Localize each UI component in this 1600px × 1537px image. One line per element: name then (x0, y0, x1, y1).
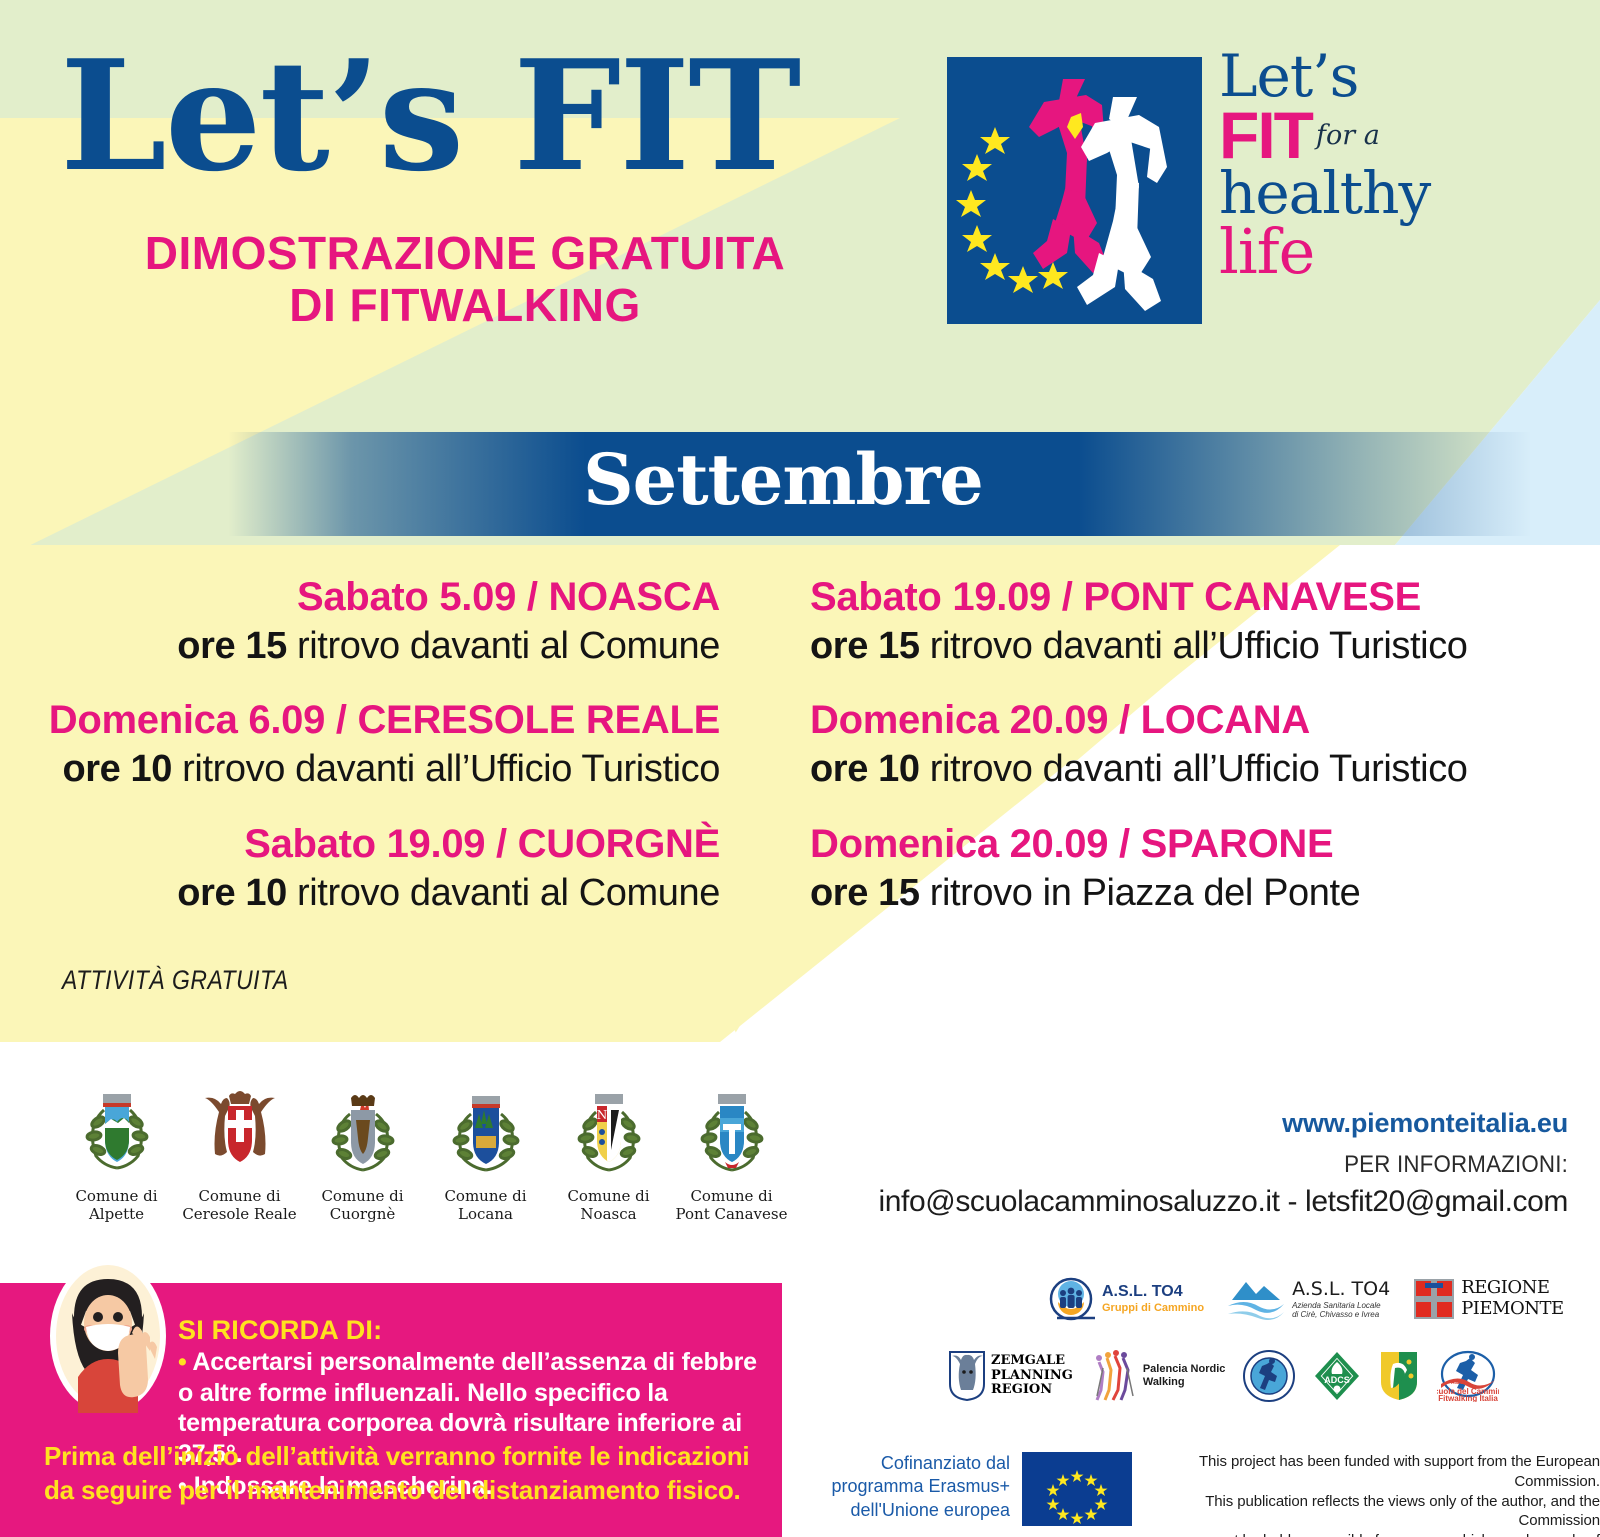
event-time: ore 15 (177, 625, 287, 667)
eu-flag-icon (1022, 1452, 1132, 1526)
crest-pont-canavese: Comune di Pont Canavese (670, 1080, 793, 1224)
crest-label-line1: Comune di (55, 1187, 178, 1205)
bridge-icon (723, 1124, 741, 1130)
crest-label-line1: Comune di (424, 1187, 547, 1205)
crest-label-line2: Pont Canavese (670, 1205, 793, 1223)
schedule-event: Sabato 5.09 / NOASCA ore 15 ritrovo dava… (0, 572, 720, 671)
piemonte-shield-icon (1412, 1277, 1456, 1321)
event-location: ritrovo davanti all’Ufficio Turistico (920, 625, 1468, 667)
coat-of-arms-icon (197, 1080, 283, 1176)
logo-healthy-text: healthy (1219, 165, 1489, 222)
partner-prefix: A.S.D. (1451, 1380, 1466, 1386)
info-label: PER INFORMAZIONI: (917, 1151, 1568, 1179)
crest-label-line1: Comune di (670, 1187, 793, 1205)
subtitle-line-1: DIMOSTRAZIONE GRATUITA (70, 228, 860, 280)
month-banner: Settembre (228, 432, 1600, 536)
eu-disclaimer: This project has been funded with suppor… (1144, 1452, 1600, 1537)
event-detail: ore 15 ritrovo in Piazza del Ponte (810, 869, 1560, 918)
elk-shield-icon (948, 1350, 986, 1402)
event-time: ore 15 (810, 625, 920, 667)
event-detail: ore 10 ritrovo davanti all’Ufficio Turis… (810, 745, 1560, 794)
partner-name: A.S.L. TO4 (1292, 1279, 1390, 1301)
partner-name-2: PLANNING (991, 1369, 1073, 1384)
crest-label-line1: Comune di (547, 1187, 670, 1205)
crest-ceresole-reale: Comune di Ceresole Reale (178, 1080, 301, 1224)
subtitle-line-2: DI FITWALKING (70, 280, 860, 332)
header: Let’s FIT DIMOSTRAZIONE GRATUITA DI FITW… (0, 0, 1600, 400)
event-location: ritrovo in Piazza del Ponte (920, 872, 1361, 914)
event-location: ritrovo davanti all’Ufficio Turistico (172, 748, 720, 790)
event-detail: ore 10 ritrovo davanti all’Ufficio Turis… (0, 745, 720, 794)
event-detail: ore 15 ritrovo davanti all’Ufficio Turis… (810, 622, 1560, 671)
logo-artwork (947, 57, 1202, 324)
crest-label-line2: Alpette (55, 1205, 178, 1223)
event-time: ore 10 (810, 748, 920, 790)
eu-funding-footer: Cofinanziato dal programma Erasmus+ dell… (820, 1452, 1600, 1537)
crest-alpette: Comune di Alpette (55, 1080, 178, 1224)
logo-scuola-cammino-fitwalking-italia: A.S.D. Scuola del Cammino Fitwalking Ita… (1437, 1350, 1499, 1402)
partner-sub1: Azienda Sanitaria Locale (1292, 1301, 1390, 1310)
cofunded-line1: Cofinanziato dal (820, 1452, 1010, 1475)
notice-footer: Prima dell’inizio dell’attività verranno… (44, 1440, 764, 1508)
schedule: Sabato 5.09 / NOASCA ore 15 ritrovo dava… (0, 572, 1600, 922)
event-title: Sabato 19.09 / CUORGNÈ (0, 819, 720, 869)
logo-life-text: life (1219, 222, 1489, 283)
green-yellow-shield-icon (1379, 1350, 1419, 1402)
logo-for-a-text: for a (1316, 120, 1380, 151)
disclaimer-line1: This project has been funded with suppor… (1144, 1452, 1600, 1492)
logo-green-shield-club (1379, 1350, 1419, 1402)
notice-footer-line2: da seguire per il mantenimento del dista… (44, 1474, 764, 1508)
event-time: ore 10 (177, 872, 287, 914)
crown-icon (103, 1094, 131, 1104)
cofunded-line2: programma Erasmus+ (820, 1475, 1010, 1498)
event-detail: ore 15 ritrovo davanti al Comune (0, 622, 720, 671)
event-location: ritrovo davanti al Comune (287, 872, 720, 914)
page-title: Let’s FIT (60, 40, 799, 192)
logo-fit-text: FIT (1219, 105, 1312, 166)
event-title: Domenica 20.09 / LOCANA (810, 695, 1560, 745)
mountain-wave-icon (1226, 1278, 1286, 1320)
schedule-event: Domenica 6.09 / CERESOLE REALE ore 10 ri… (0, 695, 720, 794)
nordic-walkers-icon (1091, 1350, 1137, 1402)
schedule-event: Sabato 19.09 / CUORGNÈ ore 10 ritrovo da… (0, 819, 720, 918)
adcs-diamond-icon: ADCS (1313, 1350, 1361, 1402)
crest-label-line2: Cuorgnè (301, 1205, 424, 1223)
free-activity-note: ATTIVITÀ GRATUITA (62, 965, 289, 996)
partner-logos: A.S.L. TO4 Gruppi di Cammino A.S.L. TO4 … (940, 1272, 1590, 1452)
coat-of-arms-icon (689, 1080, 775, 1176)
contacts-block: www.piemonteitalia.eu PER INFORMAZIONI: … (868, 1108, 1568, 1219)
event-location: ritrovo davanti all’Ufficio Turistico (920, 748, 1468, 790)
fitwalking-italia-icon: A.S.D. Scuola del Cammino Fitwalking Ita… (1437, 1350, 1499, 1402)
cofunded-line3: dell'Unione europea (820, 1499, 1010, 1522)
crest-label-line2: Locana (424, 1205, 547, 1223)
event-title: Domenica 20.09 / SPARONE (810, 819, 1560, 869)
logo-square-background (947, 57, 1202, 324)
schedule-event: Domenica 20.09 / LOCANA ore 10 ritrovo d… (810, 695, 1560, 794)
coat-of-arms-icon: N (566, 1080, 652, 1176)
walking-group-icon (1045, 1276, 1097, 1322)
coat-of-arms-icon (320, 1080, 406, 1176)
schedule-column-left: Sabato 5.09 / NOASCA ore 15 ritrovo dava… (0, 572, 760, 942)
partner-tagline: Gruppi di Cammino (1102, 1302, 1204, 1315)
running-man-seal-icon (1243, 1350, 1295, 1402)
partner-logos-row-1: A.S.L. TO4 Gruppi di Cammino A.S.L. TO4 … (1045, 1276, 1564, 1322)
crown-icon (718, 1094, 746, 1104)
partner-name: A.S.L. TO4 (1102, 1283, 1204, 1301)
logo-asl-to4-azienda: A.S.L. TO4 Azienda Sanitaria Locale di C… (1226, 1278, 1390, 1320)
crest-label: Comune di Noasca (547, 1187, 670, 1224)
crown-icon (351, 1095, 375, 1106)
partner-name: Palencia Nordic (1143, 1363, 1226, 1376)
crest-label-line1: Comune di (301, 1187, 424, 1205)
logo-adcs-carvalhais: ADCS (1313, 1350, 1361, 1402)
crest-label-line2: Noasca (547, 1205, 670, 1223)
notice-title: SI RICORDA DI: (178, 1315, 382, 1346)
logo-regione-piemonte: REGIONE PIEMONTE (1412, 1277, 1563, 1321)
logo-lets-text: Let’s (1219, 49, 1489, 105)
bull-icon (476, 1136, 496, 1148)
avatar (48, 1257, 168, 1415)
bullet-marker: • (178, 1348, 187, 1376)
partner-sub2: di Cirè, Chivasso e Ivrea (1292, 1310, 1390, 1319)
crown-icon (229, 1091, 251, 1104)
month-label: Settembre (228, 438, 1338, 521)
coat-of-arms-icon (74, 1080, 160, 1176)
event-title: Sabato 5.09 / NOASCA (0, 572, 720, 622)
event-time: ore 10 (62, 748, 172, 790)
crest-label: Comune di Alpette (55, 1187, 178, 1224)
masked-woman-icon (48, 1257, 168, 1415)
crest-noasca: N Comune di Noasca (547, 1080, 670, 1224)
schedule-column-right: Sabato 19.09 / PONT CANAVESE ore 15 ritr… (800, 572, 1560, 942)
partner-name-2: PIEMONTE (1461, 1299, 1563, 1320)
website-link[interactable]: www.piemonteitalia.eu (868, 1108, 1568, 1139)
notice-footer-line1: Prima dell’inizio dell’attività verranno… (44, 1440, 764, 1474)
partner-name-3: REGION (991, 1383, 1073, 1398)
schedule-event: Sabato 19.09 / PONT CANAVESE ore 15 ritr… (810, 572, 1560, 671)
crest-label: Comune di Locana (424, 1187, 547, 1224)
disclaimer-line2: This publication reflects the views only… (1144, 1492, 1600, 1532)
ribbon-icon (725, 1162, 739, 1168)
partner-name-2: Walking (1143, 1376, 1226, 1389)
email-addresses[interactable]: info@scuolacamminosaluzzo.it - letsfit20… (868, 1185, 1568, 1219)
page-subtitle: DIMOSTRAZIONE GRATUITA DI FITWALKING (70, 228, 860, 331)
crown-icon (472, 1096, 500, 1105)
logo-asl-to4-gruppi-di-cammino: A.S.L. TO4 Gruppi di Cammino (1045, 1276, 1204, 1322)
crest-label: Comune di Ceresole Reale (178, 1187, 301, 1224)
logo-zemgale-planning-region: ZEMGALE PLANNING REGION (948, 1350, 1073, 1402)
partner-name-2: Fitwalking Italia (1439, 1394, 1499, 1402)
logo-sport-club-seal (1243, 1350, 1295, 1402)
svg-text:N: N (596, 1108, 607, 1122)
cofunded-text: Cofinanziato dal programma Erasmus+ dell… (820, 1452, 1010, 1522)
crest-label: Comune di Pont Canavese (670, 1187, 793, 1224)
event-title: Sabato 19.09 / PONT CANAVESE (810, 572, 1560, 622)
partner-name: ZEMGALE (991, 1354, 1073, 1369)
poster-root: Let’s FIT DIMOSTRAZIONE GRATUITA DI FITW… (0, 0, 1600, 1537)
crown-icon (595, 1094, 623, 1104)
svg-text:ADCS: ADCS (1325, 1375, 1351, 1385)
crest-label-line1: Comune di (178, 1187, 301, 1205)
crest-locana: Comune di Locana (424, 1080, 547, 1224)
letsfit-logo: Let’s FITfor a healthy life (947, 57, 1487, 342)
disclaimer-line3: cannot be held responsible for any use w… (1144, 1531, 1600, 1537)
municipality-crests: Comune di Alpette Comune di Ceresole Rea… (55, 1080, 795, 1224)
schedule-event: Domenica 20.09 / SPARONE ore 15 ritrovo … (810, 819, 1560, 918)
event-detail: ore 10 ritrovo davanti al Comune (0, 869, 720, 918)
logo-palencia-nordic-walking: Palencia Nordic Walking (1091, 1350, 1226, 1402)
coat-of-arms-icon (443, 1080, 529, 1176)
crest-label-line2: Ceresole Reale (178, 1205, 301, 1223)
eye-icon (93, 1312, 103, 1322)
event-time: ore 15 (810, 872, 920, 914)
crest-cuorgne: Comune di Cuorgnè (301, 1080, 424, 1224)
partner-name: REGIONE (1461, 1278, 1563, 1299)
partner-logos-row-2: ZEMGALE PLANNING REGION (948, 1350, 1499, 1402)
logo-wordmark: Let’s FITfor a healthy life (1219, 49, 1489, 339)
event-title: Domenica 6.09 / CERESOLE REALE (0, 695, 720, 745)
crest-label: Comune di Cuorgnè (301, 1187, 424, 1224)
eye-icon (113, 1312, 123, 1322)
event-location: ritrovo davanti al Comune (287, 625, 720, 667)
